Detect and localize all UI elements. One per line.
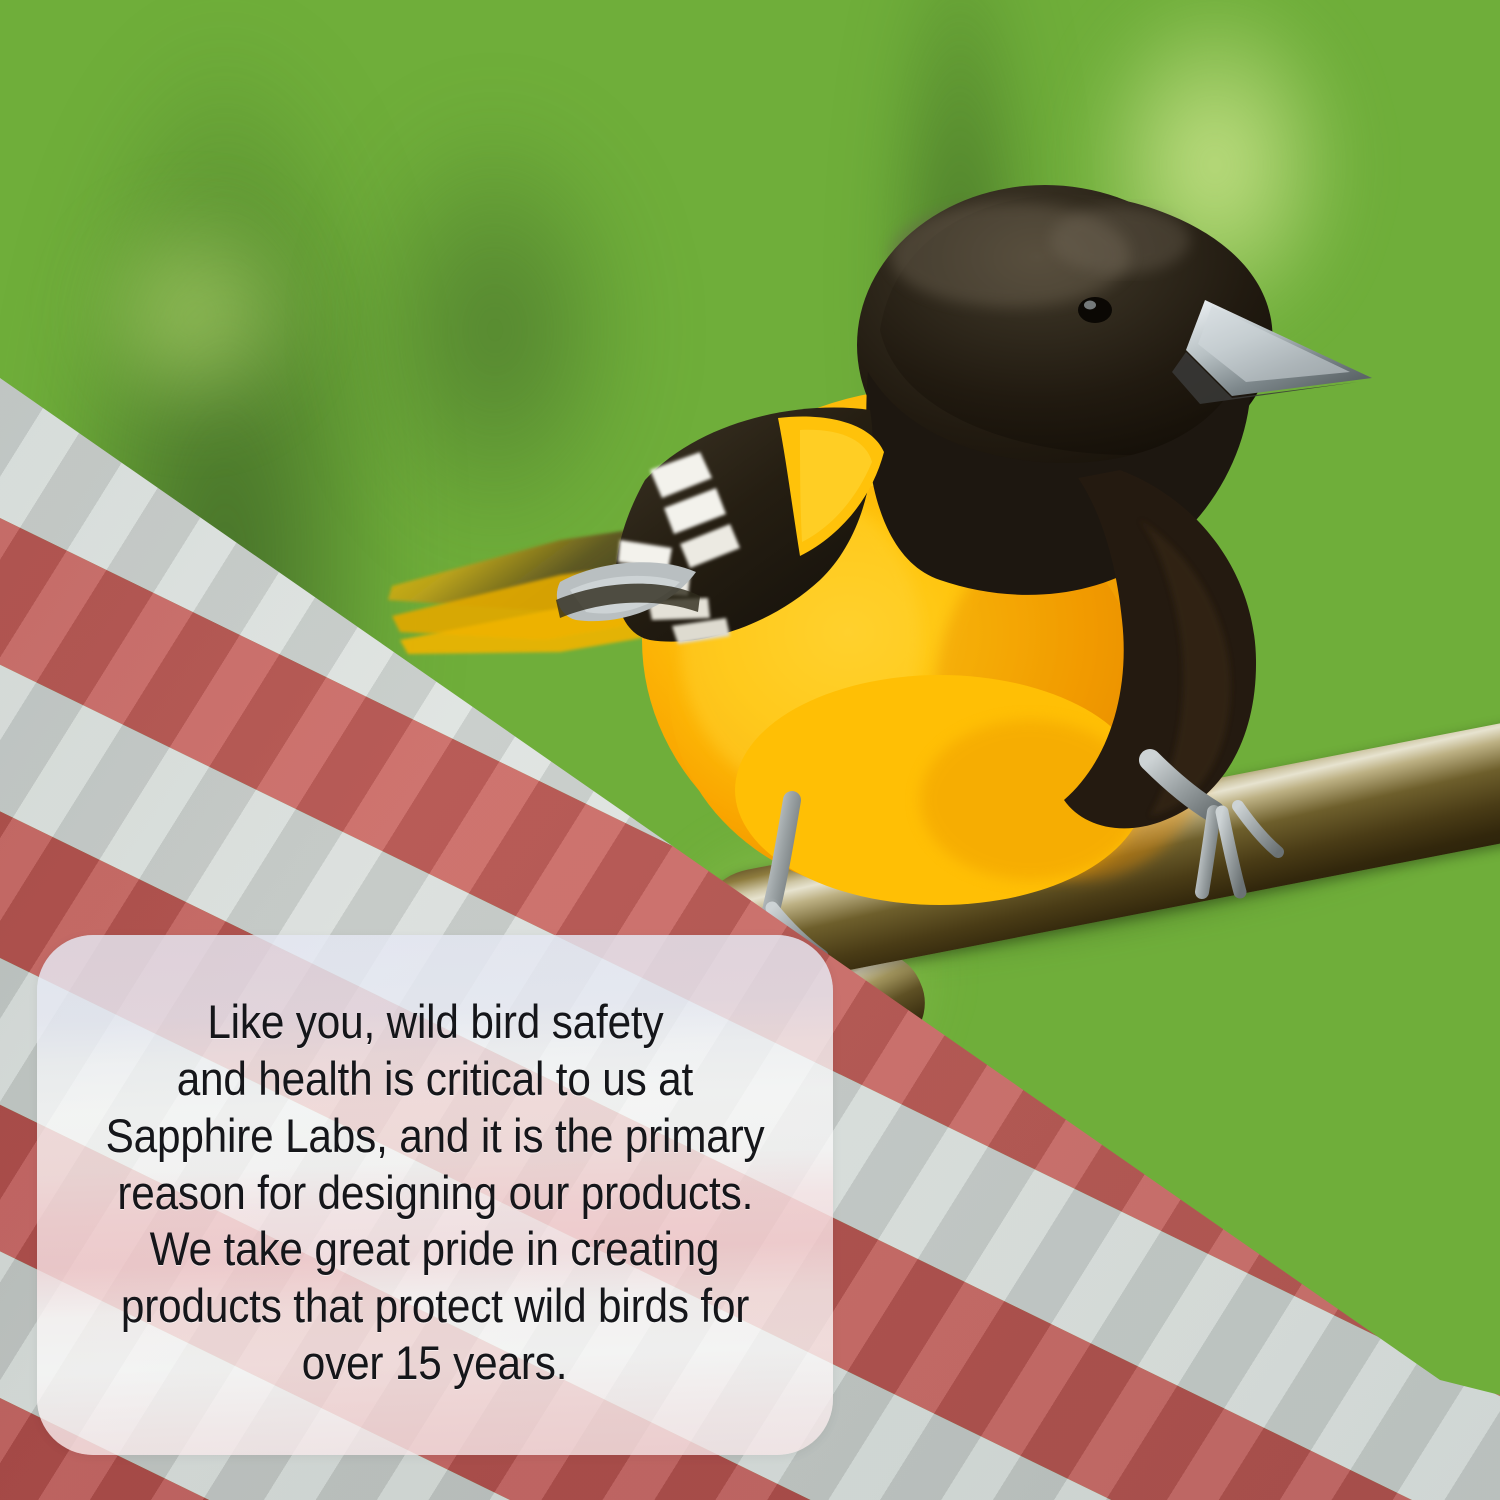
message-line: products that protect wild birds for bbox=[121, 1281, 749, 1332]
background-bokeh-highlight-left bbox=[30, 150, 360, 480]
message-line: over 15 years. bbox=[302, 1338, 568, 1389]
message-line: Sapphire Labs, and it is the primary bbox=[106, 1111, 765, 1162]
card-text-block: Like you, wild bird safety and health is… bbox=[37, 935, 833, 1455]
message-line: reason for designing our products. bbox=[117, 1168, 753, 1219]
message-line: and health is critical to us at bbox=[177, 1054, 693, 1105]
message-line: We take great pride in creating bbox=[150, 1224, 720, 1275]
brand-message-card: Like you, wild bird safety and health is… bbox=[37, 935, 833, 1455]
background-bokeh-highlight-top-right bbox=[1020, 0, 1410, 420]
product-lifestyle-image: Like you, wild bird safety and health is… bbox=[0, 0, 1500, 1500]
message-line: Like you, wild bird safety bbox=[207, 997, 663, 1048]
